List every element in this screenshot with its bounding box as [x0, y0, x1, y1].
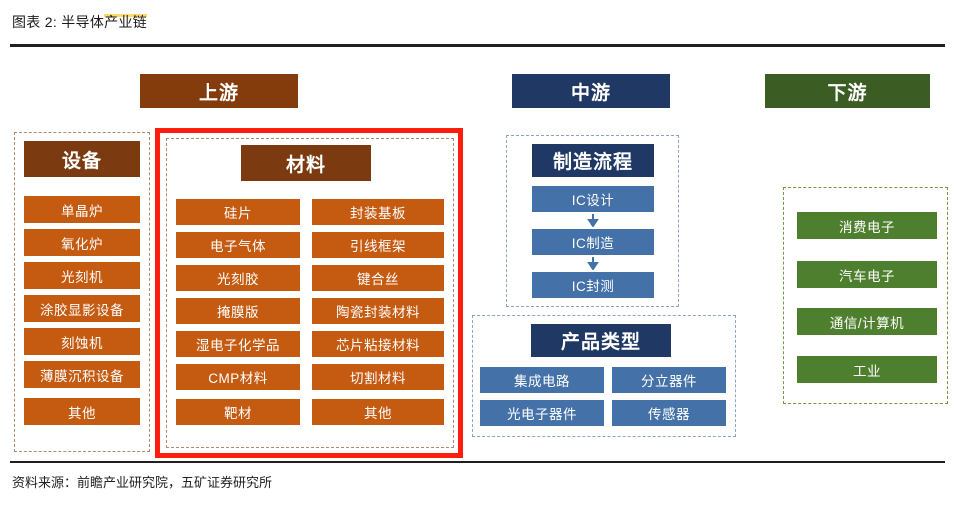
- product-type-label: 传感器: [648, 403, 690, 423]
- materials-item[interactable]: 光刻胶: [176, 265, 300, 291]
- equipment-item[interactable]: 光刻机: [24, 262, 140, 289]
- product-types-header: 产品类型: [531, 324, 671, 357]
- materials-item[interactable]: 陶瓷封装材料: [312, 298, 444, 324]
- materials-item[interactable]: 引线框架: [312, 232, 444, 258]
- equipment-item[interactable]: 其他: [24, 398, 140, 425]
- materials-item[interactable]: 掩膜版: [176, 298, 300, 324]
- process-header: 制造流程: [532, 144, 654, 177]
- materials-item-label: 硅片: [224, 202, 252, 222]
- materials-item-label: 电子气体: [210, 235, 266, 255]
- product-type-label: 光电子器件: [507, 403, 577, 423]
- equipment-item-label: 光刻机: [61, 266, 103, 286]
- materials-item-label: 其他: [364, 402, 392, 422]
- downstream-item-label: 通信/计算机: [830, 312, 904, 332]
- materials-item-label: 切割材料: [350, 367, 406, 387]
- equipment-item-label: 单晶炉: [61, 200, 103, 220]
- materials-item[interactable]: 切割材料: [312, 364, 444, 390]
- process-step[interactable]: IC设计: [532, 186, 654, 212]
- product-type-item[interactable]: 分立器件: [612, 367, 726, 393]
- equipment-item[interactable]: 单晶炉: [24, 196, 140, 223]
- product-type-item[interactable]: 集成电路: [480, 367, 604, 393]
- equipment-header-label: 设备: [62, 146, 102, 173]
- equipment-item-label: 其他: [68, 402, 96, 422]
- materials-item-label: 湿电子化学品: [196, 334, 280, 354]
- materials-item-label: CMP材料: [208, 367, 268, 387]
- materials-item[interactable]: CMP材料: [176, 364, 300, 390]
- downstream-item-label: 工业: [853, 360, 881, 380]
- arrow-down-icon: [587, 214, 599, 227]
- midstream-band: 中游: [512, 74, 670, 108]
- materials-item-label: 键合丝: [357, 268, 399, 288]
- materials-item[interactable]: 硅片: [176, 199, 300, 225]
- materials-header: 材料: [241, 145, 371, 181]
- source-note: 资料来源：前瞻产业研究院，五矿证券研究所: [12, 472, 272, 491]
- equipment-header: 设备: [24, 141, 140, 177]
- figure-title-highlight: 产业链: [104, 14, 147, 30]
- downstream-band-label: 下游: [827, 78, 867, 105]
- downstream-item[interactable]: 汽车电子: [797, 261, 937, 288]
- materials-item[interactable]: 封装基板: [312, 199, 444, 225]
- product-types-header-label: 产品类型: [561, 327, 641, 354]
- figure-canvas: 图表 2: 半导体产业链 上游 设备 单晶炉 氧化炉 光刻机 涂胶显影设备 刻蚀…: [0, 0, 955, 517]
- arrow-down-icon: [587, 257, 599, 270]
- materials-item-label: 陶瓷封装材料: [336, 301, 420, 321]
- materials-item-label: 封装基板: [350, 202, 406, 222]
- downstream-band: 下游: [765, 74, 930, 108]
- downstream-item[interactable]: 消费电子: [797, 212, 937, 239]
- materials-item-label: 掩膜版: [217, 301, 259, 321]
- product-type-item[interactable]: 传感器: [612, 400, 726, 426]
- figure-title: 图表 2: 半导体产业链: [12, 12, 147, 32]
- process-step[interactable]: IC封测: [532, 272, 654, 298]
- process-step-label: IC制造: [572, 232, 615, 252]
- equipment-item-label: 涂胶显影设备: [40, 299, 124, 319]
- materials-item[interactable]: 靶材: [176, 399, 300, 425]
- downstream-item-label: 消费电子: [839, 216, 895, 236]
- title-divider: [10, 44, 945, 47]
- downstream-item[interactable]: 工业: [797, 356, 937, 383]
- materials-item-label: 芯片粘接材料: [336, 334, 420, 354]
- materials-item-label: 光刻胶: [217, 268, 259, 288]
- product-type-label: 分立器件: [641, 370, 697, 390]
- upstream-band: 上游: [140, 74, 298, 108]
- product-type-label: 集成电路: [514, 370, 570, 390]
- materials-header-label: 材料: [286, 150, 326, 177]
- process-step[interactable]: IC制造: [532, 229, 654, 255]
- midstream-band-label: 中游: [571, 78, 611, 105]
- upstream-band-label: 上游: [199, 78, 239, 105]
- materials-item[interactable]: 电子气体: [176, 232, 300, 258]
- equipment-item-label: 薄膜沉积设备: [40, 365, 124, 385]
- product-type-item[interactable]: 光电子器件: [480, 400, 604, 426]
- materials-item[interactable]: 芯片粘接材料: [312, 331, 444, 357]
- equipment-item-label: 刻蚀机: [61, 332, 103, 352]
- equipment-item[interactable]: 薄膜沉积设备: [24, 361, 140, 388]
- materials-item[interactable]: 键合丝: [312, 265, 444, 291]
- process-header-label: 制造流程: [553, 147, 633, 174]
- materials-item[interactable]: 其他: [312, 399, 444, 425]
- equipment-item-label: 氧化炉: [61, 233, 103, 253]
- process-step-label: IC封测: [572, 275, 615, 295]
- materials-item[interactable]: 湿电子化学品: [176, 331, 300, 357]
- downstream-item[interactable]: 通信/计算机: [797, 308, 937, 335]
- materials-item-label: 靶材: [224, 402, 252, 422]
- equipment-item[interactable]: 氧化炉: [24, 229, 140, 256]
- source-divider: [10, 461, 945, 463]
- materials-item-label: 引线框架: [350, 235, 406, 255]
- process-step-label: IC设计: [572, 189, 615, 209]
- figure-title-prefix: 图表 2: 半导体: [12, 14, 104, 30]
- downstream-item-label: 汽车电子: [839, 265, 895, 285]
- equipment-item[interactable]: 刻蚀机: [24, 328, 140, 355]
- equipment-item[interactable]: 涂胶显影设备: [24, 295, 140, 322]
